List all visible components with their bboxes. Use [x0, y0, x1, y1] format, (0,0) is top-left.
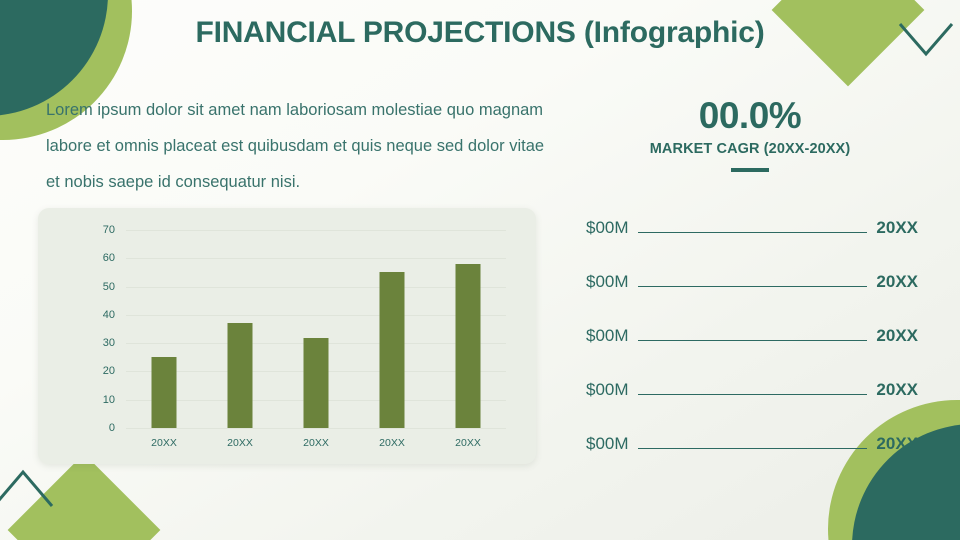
- chart-x-axis-label: 20XX: [379, 437, 405, 449]
- bar-chart-plot-area: 01020304050607020XX20XX20XX20XX20XX: [126, 230, 506, 428]
- chart-y-axis-label: 0: [109, 422, 115, 434]
- projection-row: $00M20XX: [586, 380, 918, 434]
- projection-year: 20XX: [876, 380, 918, 400]
- cagr-label: MARKET CAGR (20XX-20XX): [560, 141, 940, 157]
- chart-x-axis-label: 20XX: [151, 437, 177, 449]
- chart-bar: [456, 264, 481, 428]
- chart-gridline: 60: [126, 258, 506, 259]
- projection-row: $00M20XX: [586, 272, 918, 326]
- projection-connector-line: [638, 394, 868, 395]
- projection-row-list: $00M20XX$00M20XX$00M20XX$00M20XX$00M20XX: [586, 218, 918, 488]
- chart-bar: [380, 272, 405, 428]
- projection-amount: $00M: [586, 380, 629, 400]
- chart-bar: [304, 338, 329, 429]
- chart-y-axis-label: 50: [103, 281, 115, 293]
- projection-connector-line: [638, 448, 868, 449]
- cagr-block: 00.0% MARKET CAGR (20XX-20XX): [560, 96, 940, 172]
- chart-x-axis-label: 20XX: [303, 437, 329, 449]
- slide: FINANCIAL PROJECTIONS (Infographic) Lore…: [0, 0, 960, 540]
- projection-connector-line: [638, 340, 868, 341]
- chart-y-axis-label: 70: [103, 224, 115, 236]
- projection-amount: $00M: [586, 272, 629, 292]
- bottom-left-chevron-icon: [0, 466, 54, 510]
- projection-amount: $00M: [586, 326, 629, 346]
- projection-amount: $00M: [586, 434, 629, 454]
- chart-y-axis-label: 10: [103, 394, 115, 406]
- chart-x-axis-label: 20XX: [455, 437, 481, 449]
- chart-gridline: 40: [126, 315, 506, 316]
- chart-bar: [228, 323, 253, 428]
- chart-gridline: 70: [126, 230, 506, 231]
- projection-row: $00M20XX: [586, 326, 918, 380]
- chart-y-axis-label: 20: [103, 365, 115, 377]
- projection-year: 20XX: [876, 218, 918, 238]
- chart-gridline: 50: [126, 287, 506, 288]
- projection-row: $00M20XX: [586, 218, 918, 272]
- bottom-left-diamond-decoration: [8, 454, 161, 540]
- chart-y-axis-label: 40: [103, 309, 115, 321]
- chart-y-axis-label: 30: [103, 337, 115, 349]
- page-title: FINANCIAL PROJECTIONS (Infographic): [0, 16, 960, 50]
- projection-connector-line: [638, 286, 868, 287]
- projection-year: 20XX: [876, 434, 918, 454]
- chart-gridline: 0: [126, 428, 506, 429]
- bar-chart-card: 01020304050607020XX20XX20XX20XX20XX: [38, 208, 536, 464]
- body-paragraph: Lorem ipsum dolor sit amet nam laboriosa…: [46, 92, 546, 200]
- projection-amount: $00M: [586, 218, 629, 238]
- projection-year: 20XX: [876, 272, 918, 292]
- projection-row: $00M20XX: [586, 434, 918, 488]
- cagr-value: 00.0%: [560, 96, 940, 136]
- chart-y-axis-label: 60: [103, 252, 115, 264]
- chart-x-axis-label: 20XX: [227, 437, 253, 449]
- chart-bar: [152, 357, 177, 428]
- projection-connector-line: [638, 232, 868, 233]
- cagr-divider: [731, 168, 769, 172]
- projection-year: 20XX: [876, 326, 918, 346]
